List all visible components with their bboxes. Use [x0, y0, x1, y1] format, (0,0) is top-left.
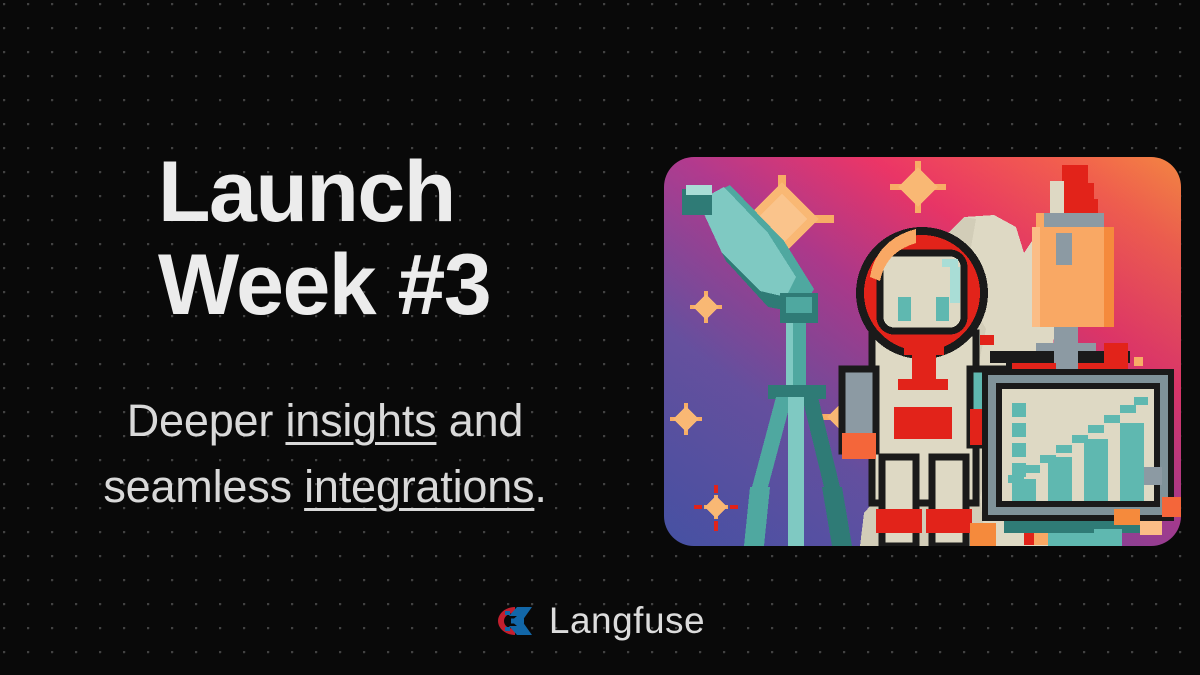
- analytics-monitor: [982, 369, 1174, 546]
- subtitle-text-1: Deeper: [127, 395, 286, 446]
- subtitle-emphasis-insights: insights: [285, 395, 436, 446]
- launch-week-banner: Launch Week #3 Deeper insights andseamle…: [0, 0, 1200, 675]
- brand-name: Langfuse: [549, 602, 705, 639]
- hero-subtitle: Deeper insights andseamless integrations…: [40, 388, 610, 519]
- launch-artwork-card: [664, 157, 1181, 546]
- brand-footer: Langfuse: [0, 602, 1200, 639]
- hero-text-column: Launch Week #3 Deeper insights andseamle…: [0, 0, 640, 560]
- page-title: Launch Week #3: [158, 146, 628, 332]
- subtitle-text-3: seamless: [103, 461, 304, 512]
- langfuse-logo-mark: [495, 604, 535, 638]
- subtitle-emphasis-integrations: integrations: [304, 461, 534, 512]
- subtitle-text-2: and: [436, 395, 523, 446]
- subtitle-text-4: .: [534, 461, 546, 512]
- pixel-art-launch-illustration: [664, 157, 1181, 546]
